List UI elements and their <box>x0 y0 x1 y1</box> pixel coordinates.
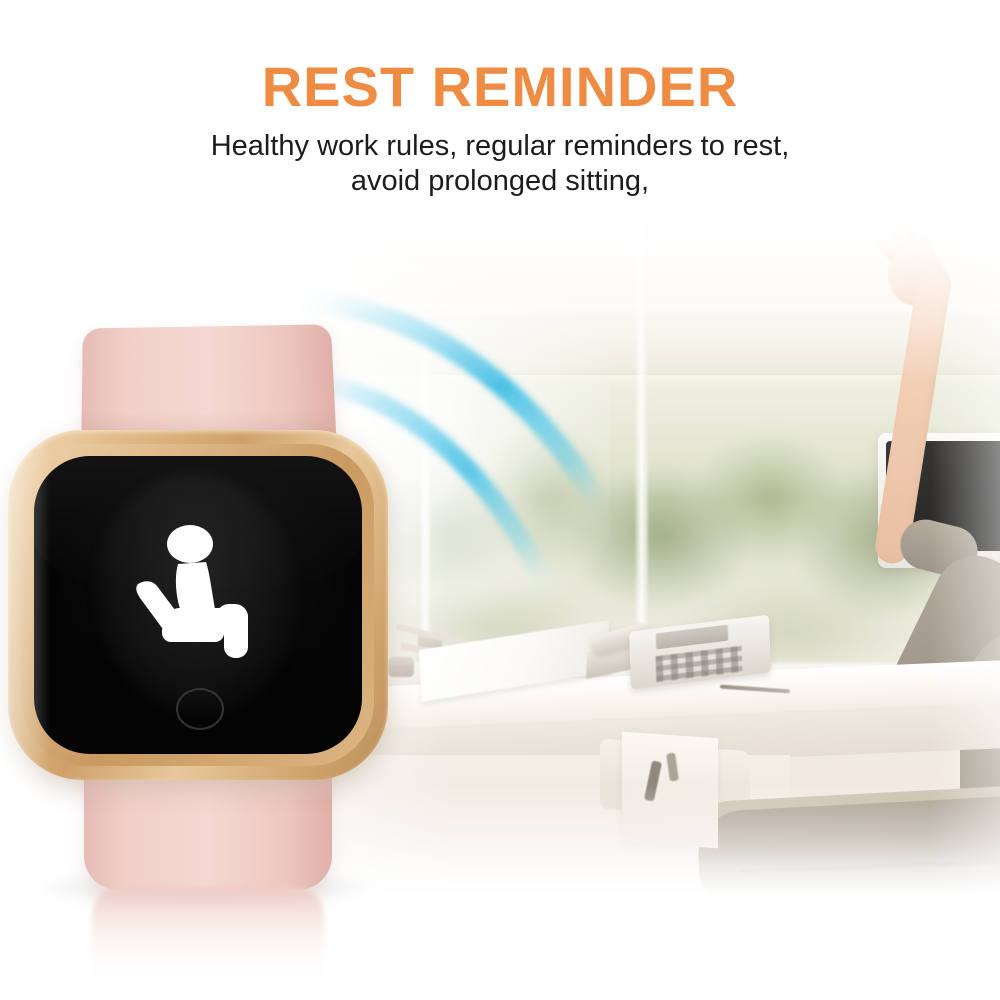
subtitle-line-2: avoid prolonged sitting, <box>0 164 1000 199</box>
page-title: REST REMINDER <box>0 0 1000 115</box>
product-banner: REST REMINDER Healthy work rules, regula… <box>0 0 1000 1000</box>
under-desk-box <box>622 732 718 849</box>
sitting-person-icon <box>130 518 280 668</box>
office-scene-photo <box>300 205 1000 895</box>
banner-header: REST REMINDER Healthy work rules, regula… <box>0 0 1000 200</box>
subtitle-line-1: Healthy work rules, regular reminders to… <box>0 129 1000 164</box>
window-head-rail <box>300 305 1000 321</box>
watch-band-reflection <box>92 886 324 998</box>
watch-screen[interactable] <box>34 456 362 754</box>
smartwatch[interactable] <box>0 320 400 900</box>
home-button[interactable] <box>176 688 224 730</box>
page-subtitle: Healthy work rules, regular reminders to… <box>0 115 1000 200</box>
window-mullion-right <box>635 205 648 660</box>
